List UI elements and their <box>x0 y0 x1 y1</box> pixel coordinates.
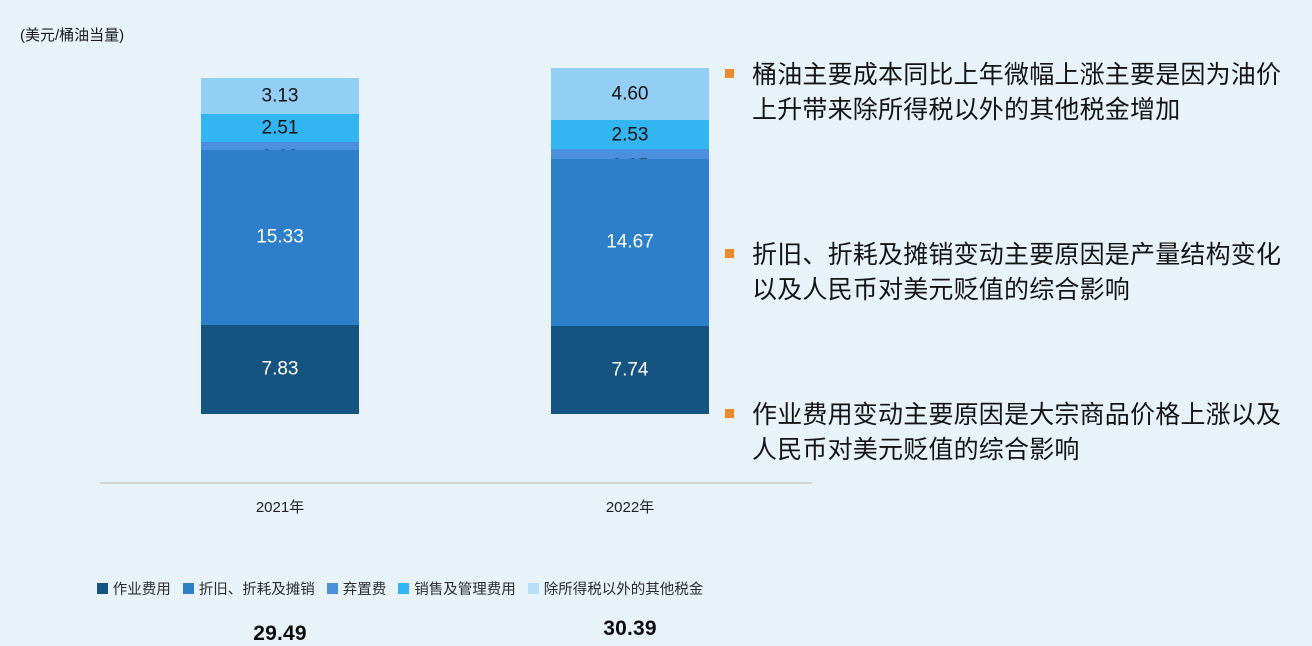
legend-swatch-icon <box>528 583 539 594</box>
bar-segment-label: 4.60 <box>551 85 709 104</box>
chart-legend: 作业费用折旧、折耗及摊销弃置费销售及管理费用除所得税以外的其他税金 <box>0 578 812 599</box>
x-axis-line <box>100 482 812 484</box>
bar-segment-sga-2022[interactable]: 2.53 <box>551 120 709 149</box>
bar-segment-other-taxes-2022[interactable]: 4.60 <box>551 68 709 120</box>
bar-segment-label: 2.53 <box>551 125 709 144</box>
commentary-item-2: 折旧、折耗及摊销变动主要原因是产量结构变化以及人民币对美元贬值的综合影响 <box>725 238 1300 307</box>
bullet-square-icon <box>725 69 734 78</box>
bar-segment-dda-2021[interactable]: 15.33 <box>201 150 359 325</box>
legend-swatch-icon <box>97 583 108 594</box>
bar-segment-other-taxes-2021[interactable]: 3.13 <box>201 78 359 114</box>
bar-stack-2021: 3.13 2.51 0.69 15.33 7.83 <box>201 78 359 414</box>
commentary-item-1: 桶油主要成本同比上年微幅上涨主要是因为油价上升带来除所得税以外的其他税金增加 <box>725 58 1300 127</box>
legend-swatch-icon <box>398 583 409 594</box>
legend-label: 作业费用 <box>113 578 171 599</box>
bar-segment-label: 7.83 <box>201 360 359 379</box>
legend-item[interactable]: 除所得税以外的其他税金 <box>528 578 704 599</box>
bar-segment-label: 14.67 <box>551 233 709 252</box>
legend-label: 弃置费 <box>343 578 387 599</box>
bar-stack-2022: 4.60 2.53 0.85 14.67 7.74 <box>551 68 709 414</box>
bar-segment-label: 3.13 <box>201 86 359 105</box>
legend-item[interactable]: 销售及管理费用 <box>398 578 516 599</box>
commentary-text: 折旧、折耗及摊销变动主要原因是产量结构变化以及人民币对美元贬值的综合影响 <box>752 238 1300 307</box>
legend-item[interactable]: 作业费用 <box>97 578 171 599</box>
legend-label: 除所得税以外的其他税金 <box>544 578 704 599</box>
legend-item[interactable]: 折旧、折耗及摊销 <box>183 578 315 599</box>
bar-segment-abandonment-2022[interactable]: 0.85 <box>551 149 709 159</box>
bar-segment-sga-2021[interactable]: 2.51 <box>201 114 359 143</box>
bar-segment-dda-2022[interactable]: 14.67 <box>551 159 709 326</box>
commentary-item-3: 作业费用变动主要原因是大宗商品价格上涨以及人民币对美元贬值的综合影响 <box>725 398 1300 467</box>
bar-segment-label: 2.51 <box>201 118 359 137</box>
x-axis-label-2022: 2022年 <box>551 496 709 517</box>
chart-area: (美元/桶油当量) 29.49 3.13 2.51 0.69 15.33 7.8… <box>0 0 812 560</box>
legend-label: 销售及管理费用 <box>414 578 516 599</box>
bar-segment-opex-2022[interactable]: 7.74 <box>551 326 709 414</box>
axis-unit-caption: (美元/桶油当量) <box>20 24 124 45</box>
bullet-square-icon <box>725 409 734 418</box>
legend-label: 折旧、折耗及摊销 <box>199 578 315 599</box>
bar-segment-label: 7.74 <box>551 360 709 379</box>
legend-item[interactable]: 弃置费 <box>327 578 387 599</box>
bar-segment-label: 15.33 <box>201 228 359 247</box>
bullet-square-icon <box>725 249 734 258</box>
x-axis-label-2021: 2021年 <box>201 496 359 517</box>
legend-swatch-icon <box>183 583 194 594</box>
commentary-text: 作业费用变动主要原因是大宗商品价格上涨以及人民币对美元贬值的综合影响 <box>752 398 1300 467</box>
commentary-panel: 桶油主要成本同比上年微幅上涨主要是因为油价上升带来除所得税以外的其他税金增加 折… <box>725 0 1312 628</box>
legend-swatch-icon <box>327 583 338 594</box>
bar-total-label-2021: 29.49 <box>201 622 359 646</box>
bar-segment-abandonment-2021[interactable]: 0.69 <box>201 142 359 150</box>
commentary-text: 桶油主要成本同比上年微幅上涨主要是因为油价上升带来除所得税以外的其他税金增加 <box>752 58 1300 127</box>
bar-total-label-2022: 30.39 <box>551 617 709 641</box>
bar-segment-opex-2021[interactable]: 7.83 <box>201 325 359 414</box>
